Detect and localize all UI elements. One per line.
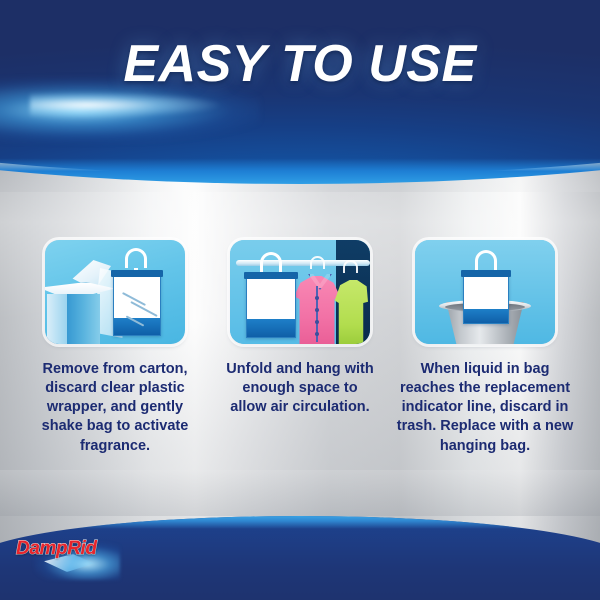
bag-top-bar xyxy=(461,270,511,277)
shirt-button xyxy=(315,332,319,336)
remove-from-carton-illustration xyxy=(45,240,185,344)
bag-liquid-level xyxy=(247,319,295,337)
step-1-caption: Remove from carton, discard clear plasti… xyxy=(25,360,205,456)
moisture-absorber-bag-icon xyxy=(246,276,296,338)
step-2: Unfold and hang with enough space to all… xyxy=(208,240,393,417)
step-2-caption: Unfold and hang with enough space to all… xyxy=(225,360,375,417)
hanger-hook-icon xyxy=(475,250,497,270)
shirt-button xyxy=(315,296,319,300)
bag-liquid-level xyxy=(464,309,508,323)
hanger-hook-icon xyxy=(260,252,282,272)
step-3: When liquid in bag reaches the replaceme… xyxy=(393,240,578,456)
shirt-button xyxy=(315,308,319,312)
bag-top-bar xyxy=(111,270,163,277)
easy-to-use-infographic: EASY TO USE Remove from carton, discard … xyxy=(0,0,600,600)
carton-front-face-icon xyxy=(47,294,67,344)
steps-row: Remove from carton, discard clear plasti… xyxy=(0,240,600,456)
hang-in-closet-illustration xyxy=(230,240,370,344)
garment-hanger-icon xyxy=(343,260,358,273)
page-title: EASY TO USE xyxy=(0,34,600,94)
brand-name: DampRid xyxy=(16,538,97,560)
green-garment-icon xyxy=(334,280,368,344)
shirt-button xyxy=(315,320,319,324)
bag-top-bar xyxy=(244,272,298,279)
brand-logo: DampRid xyxy=(14,532,124,578)
shirt-hanger-icon xyxy=(310,256,325,269)
step-1: Remove from carton, discard clear plasti… xyxy=(23,240,208,456)
discard-in-trash-illustration xyxy=(415,240,555,344)
hanger-hook-icon xyxy=(125,248,147,268)
step-3-caption: When liquid in bag reaches the replaceme… xyxy=(395,360,575,456)
moisture-absorber-bag-icon xyxy=(463,274,509,324)
